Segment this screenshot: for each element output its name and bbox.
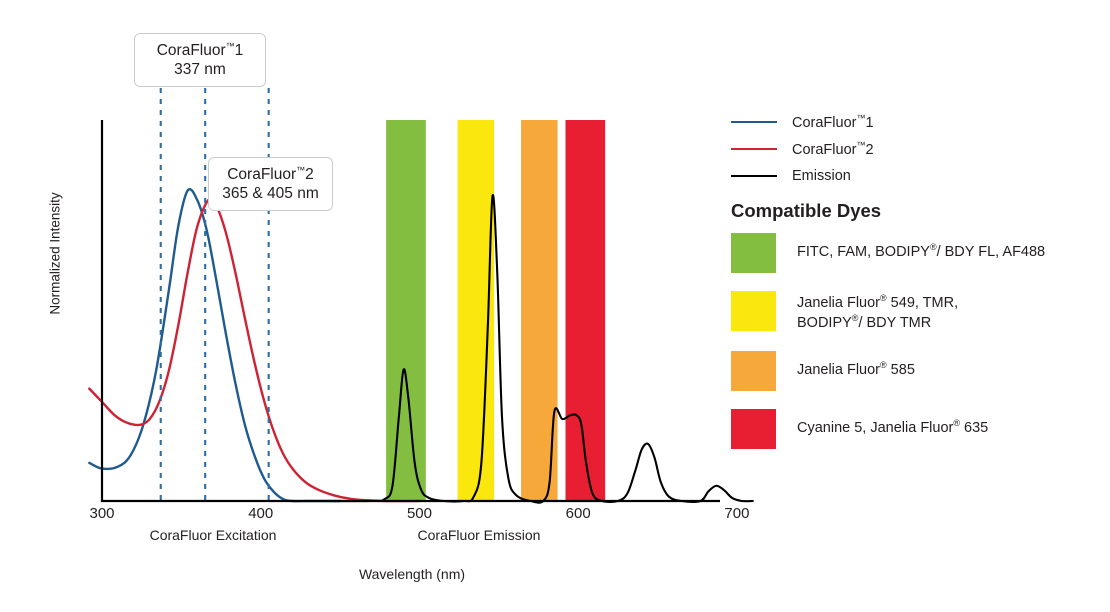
x-tick-600: 600	[553, 505, 603, 522]
dye-label: Janelia Fluor® 549, TMR,BODIPY®/ BDY TMR	[797, 291, 958, 333]
dye-label: Janelia Fluor® 585	[797, 351, 915, 380]
spectra-figure: Normalized Intensity Wavelength (nm) Cor…	[0, 0, 1110, 612]
legend-item-1: CoraFluor™2	[731, 135, 1091, 162]
x-tick-300: 300	[77, 505, 127, 522]
y-axis-label: Normalized Intensity	[48, 174, 63, 334]
series-curve-excitation-CoraFluor1	[89, 189, 340, 501]
dye-color-swatch	[731, 233, 776, 273]
registered-symbol: ®	[930, 242, 937, 252]
dye-row-2: Janelia Fluor® 585	[731, 351, 1101, 391]
callout-corafluor2-line1: CoraFluor™2	[227, 165, 314, 185]
trademark-symbol: ™	[856, 113, 865, 123]
callout-corafluor1-line1: CoraFluor™1	[157, 41, 244, 61]
legend-line-swatch	[731, 175, 777, 177]
legend-line-swatch	[731, 121, 777, 123]
legend-item-label: Emission	[792, 168, 851, 184]
legend-item-2: Emission	[731, 162, 1091, 189]
callout-corafluor2-line2: 365 & 405 nm	[222, 185, 319, 204]
red-band	[565, 120, 605, 501]
callout-corafluor1: CoraFluor™1 337 nm	[134, 33, 266, 87]
dye-label: Cyanine 5, Janelia Fluor® 635	[797, 409, 988, 438]
x-axis-title: Wavelength (nm)	[292, 566, 532, 582]
legend-item-0: CoraFluor™1	[731, 108, 1091, 135]
dye-row-1: Janelia Fluor® 549, TMR,BODIPY®/ BDY TMR	[731, 291, 1101, 333]
compatible-dyes-list: FITC, FAM, BODIPY®/ BDY FL, AF488Janelia…	[731, 233, 1101, 467]
trademark-symbol: ™	[856, 140, 865, 150]
emission-section-label: CoraFluor Emission	[374, 527, 584, 543]
dye-color-swatch	[731, 351, 776, 391]
dye-row-3: Cyanine 5, Janelia Fluor® 635	[731, 409, 1101, 449]
x-tick-700: 700	[712, 505, 762, 522]
dye-row-0: FITC, FAM, BODIPY®/ BDY FL, AF488	[731, 233, 1101, 273]
series-legend: CoraFluor™1CoraFluor™2Emission	[731, 108, 1091, 189]
registered-symbol: ®	[880, 293, 887, 303]
x-tick-500: 500	[394, 505, 444, 522]
dye-label: FITC, FAM, BODIPY®/ BDY FL, AF488	[797, 233, 1045, 262]
green-band	[386, 120, 426, 501]
compatible-dyes-title: Compatible Dyes	[731, 200, 881, 222]
dye-color-swatch	[731, 291, 776, 331]
excitation-section-label: CoraFluor Excitation	[108, 527, 318, 543]
trademark-symbol: ™	[296, 165, 305, 175]
legend-item-label: CoraFluor™2	[792, 140, 874, 158]
callout-corafluor2: CoraFluor™2 365 & 405 nm	[208, 157, 333, 211]
registered-symbol: ®	[852, 313, 859, 323]
dye-color-swatch	[731, 409, 776, 449]
x-tick-400: 400	[236, 505, 286, 522]
registered-symbol: ®	[880, 360, 887, 370]
legend-item-label: CoraFluor™1	[792, 113, 874, 131]
registered-symbol: ®	[953, 418, 960, 428]
legend-line-swatch	[731, 148, 777, 150]
trademark-symbol: ™	[226, 41, 235, 51]
callout-corafluor1-line2: 337 nm	[174, 61, 226, 80]
